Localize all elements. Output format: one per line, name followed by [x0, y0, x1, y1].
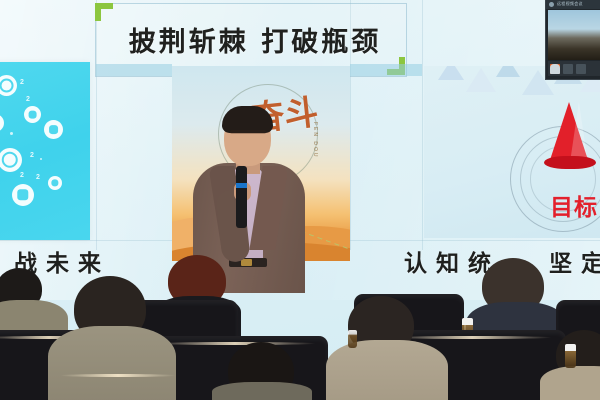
attendee-front-left-body	[212, 382, 312, 400]
water-bottle	[565, 344, 576, 368]
rocket-icon	[12, 184, 34, 206]
sparkle	[10, 132, 13, 135]
attendee-center-right-body	[326, 340, 448, 400]
corner-mark-top-left	[95, 3, 101, 21]
scatter-mark: 2	[20, 79, 24, 86]
right-slide: 目标	[424, 66, 600, 238]
book-icon	[24, 106, 41, 123]
sparkle	[40, 158, 42, 160]
speaker-hair	[222, 106, 273, 133]
slide-title: 披荆斩棘 打破瓶颈	[105, 12, 405, 67]
speaker-glasses-shadow	[230, 130, 266, 134]
scatter-mark: 2	[20, 172, 24, 179]
wall-band	[350, 64, 422, 76]
red-gem-facet	[570, 102, 587, 160]
center-sub-caption: FEN DOU	[312, 122, 318, 159]
video-panel-title: 远程视频会议	[557, 1, 583, 7]
video-panel-titlebar: 远程视频会议	[546, 0, 600, 9]
scatter-mark: 2	[30, 152, 34, 159]
polygon-decor	[438, 66, 464, 80]
chair-edge-highlight	[154, 342, 316, 345]
video-feed[interactable]	[548, 10, 600, 60]
polygon-decor	[466, 68, 496, 92]
microphone-band	[236, 183, 247, 188]
video-conference-panel[interactable]: 远程视频会议	[545, 0, 600, 80]
wall-band	[96, 64, 172, 76]
microphone-icon[interactable]	[550, 64, 560, 74]
share-screen-icon[interactable]	[563, 64, 573, 74]
globe-icon	[0, 148, 22, 172]
camera-icon[interactable]	[576, 64, 586, 74]
panel-seam	[422, 0, 423, 250]
handheld-microphone	[236, 166, 247, 228]
scatter-mark: 2	[36, 174, 40, 181]
flask-icon	[48, 176, 62, 190]
attendee-far-right-body	[540, 366, 600, 400]
lightbulb-icon	[0, 114, 4, 132]
polygon-decor	[496, 66, 520, 77]
water-bottle	[348, 330, 357, 348]
belt-buckle-icon	[241, 259, 252, 266]
chair-edge-highlight	[392, 336, 552, 339]
person-icon	[44, 120, 63, 139]
scatter-mark: 2	[26, 96, 30, 103]
chair-edge-highlight	[60, 374, 176, 377]
conference-photo: 披荆斩棘 打破瓶颈 2 2 2 2 2 奋斗 FEN DOU	[0, 0, 600, 400]
attendee-center-left-body	[48, 326, 176, 400]
video-toolbar[interactable]	[548, 61, 600, 76]
left-slide: 2 2 2 2 2	[0, 62, 90, 240]
right-slide-headline: 目标	[550, 188, 598, 222]
camera-icon	[549, 2, 554, 7]
red-gem-base	[544, 156, 596, 169]
globe-icon	[0, 75, 17, 96]
